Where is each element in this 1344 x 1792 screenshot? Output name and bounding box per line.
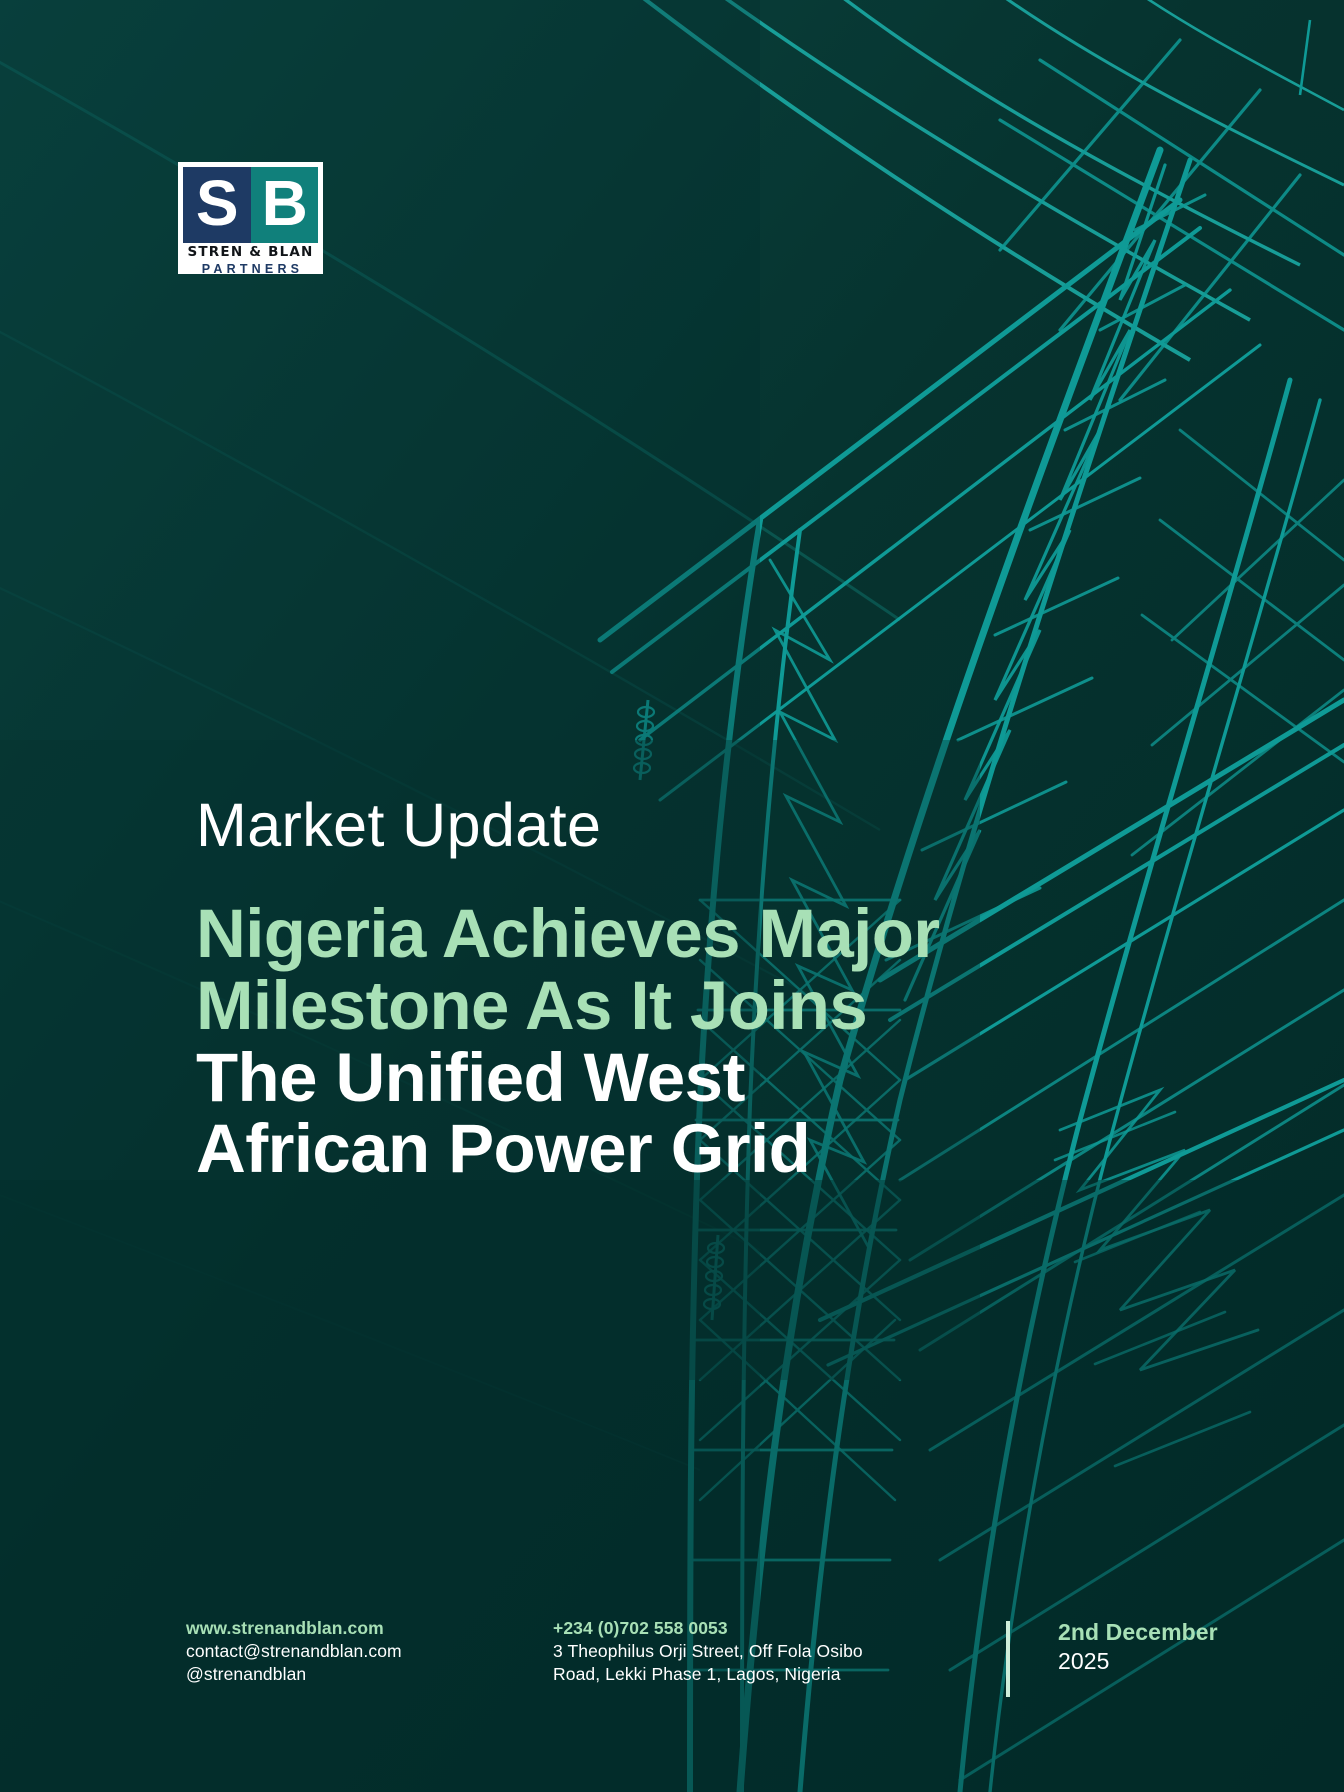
footer-address-column: +234 (0)702 558 0053 3 Theophilus Orji S… [553,1618,953,1685]
page-title: Nigeria Achieves Major Milestone As It J… [196,898,976,1185]
cover-page: S B STREN & BLAN PARTNERS Market Update … [0,0,1344,1792]
footer-divider [1006,1621,1010,1697]
footer-date-column: 2nd December 2025 [1058,1618,1318,1677]
footer-address-line-1: 3 Theophilus Orji Street, Off Fola Osibo [553,1640,953,1663]
footer-phone[interactable]: +234 (0)702 558 0053 [553,1618,953,1640]
footer-date-day-month: 2nd December [1058,1618,1318,1647]
headline-accent-part: Nigeria Achieves Major Milestone As It J… [196,895,940,1044]
footer-date-year: 2025 [1058,1647,1318,1677]
footer: www.strenandblan.com contact@strenandbla… [0,1618,1344,1728]
footer-address-line-2: Road, Lekki Phase 1, Lagos, Nigeria [553,1663,953,1686]
kicker-label: Market Update [196,795,976,856]
logo-letter-s-square: S [183,167,251,243]
logo-firm-subtitle: PARTNERS [183,263,318,276]
company-logo[interactable]: S B STREN & BLAN PARTNERS [178,162,323,274]
logo-letter-b: B [262,171,307,235]
headline-rest-part: The Unified West African Power Grid [196,1039,810,1188]
logo-monogram: S B [183,167,318,243]
footer-social-handle[interactable]: @strenandblan [186,1663,516,1686]
footer-email[interactable]: contact@strenandblan.com [186,1640,516,1663]
footer-website[interactable]: www.strenandblan.com [186,1618,516,1640]
logo-letter-b-square: B [251,167,319,243]
footer-contact-column: www.strenandblan.com contact@strenandbla… [186,1618,516,1685]
logo-letter-s: S [196,171,238,235]
logo-firm-name: STREN & BLAN [183,246,318,260]
hero-text-block: Market Update Nigeria Achieves Major Mil… [196,795,976,1185]
